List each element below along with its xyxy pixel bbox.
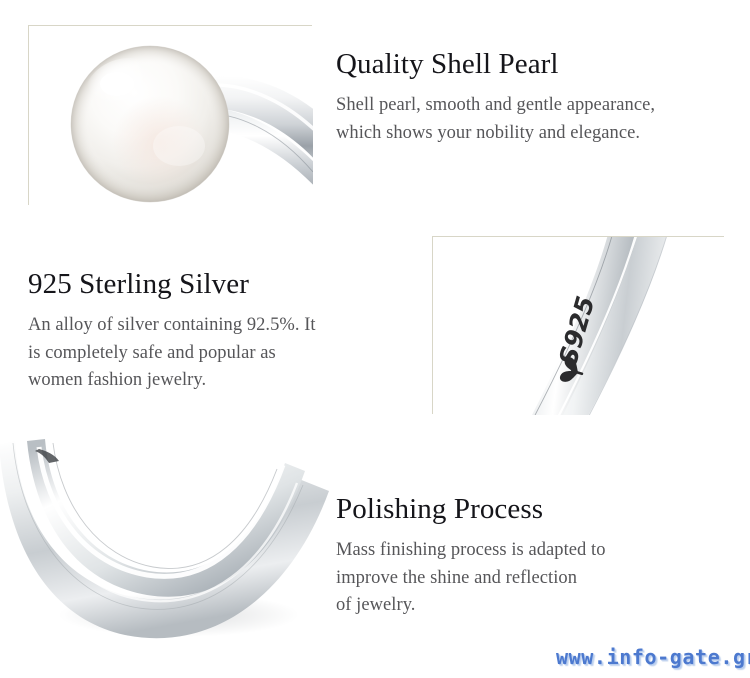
- body-line: which shows your nobility and elegance.: [336, 120, 736, 147]
- body-line: improve the shine and reflection: [336, 565, 736, 592]
- feature-heading-polish: Polishing Process: [336, 494, 736, 524]
- feature-image-panel-polish: [28, 456, 312, 635]
- feature-text-silver: 925 Sterling Silver An alloy of silver c…: [28, 269, 418, 395]
- body-line: women fashion jewelry.: [28, 367, 418, 394]
- body-line: of jewelry.: [336, 592, 736, 619]
- feature-heading-silver: 925 Sterling Silver: [28, 269, 418, 299]
- polished-ring-band-closeup: [29, 457, 311, 634]
- feature-body-pearl: Shell pearl, smooth and gentle appearanc…: [336, 92, 736, 147]
- body-line: An alloy of silver containing 92.5%. It: [28, 312, 418, 339]
- feature-image-panel-hallmark: S925: [432, 236, 724, 414]
- feature-text-pearl: Quality Shell Pearl Shell pearl, smooth …: [336, 49, 736, 147]
- site-watermark: www.info-gate.gr: [556, 645, 750, 669]
- feature-text-polish: Polishing Process Mass finishing process…: [336, 494, 736, 620]
- feature-heading-pearl: Quality Shell Pearl: [336, 49, 736, 79]
- shell-pearl-ring-closeup: [29, 26, 311, 204]
- body-line: Mass finishing process is adapted to: [336, 537, 736, 564]
- feature-body-silver: An alloy of silver containing 92.5%. It …: [28, 312, 418, 394]
- body-line: is completely safe and popular as: [28, 340, 418, 367]
- body-line: Shell pearl, smooth and gentle appearanc…: [336, 92, 736, 119]
- pearl-sphere: [71, 46, 229, 202]
- feature-image-panel-pearl: [28, 25, 312, 205]
- feature-body-polish: Mass finishing process is adapted to imp…: [336, 537, 736, 619]
- ring-band-s925-hallmark: S925: [433, 237, 723, 413]
